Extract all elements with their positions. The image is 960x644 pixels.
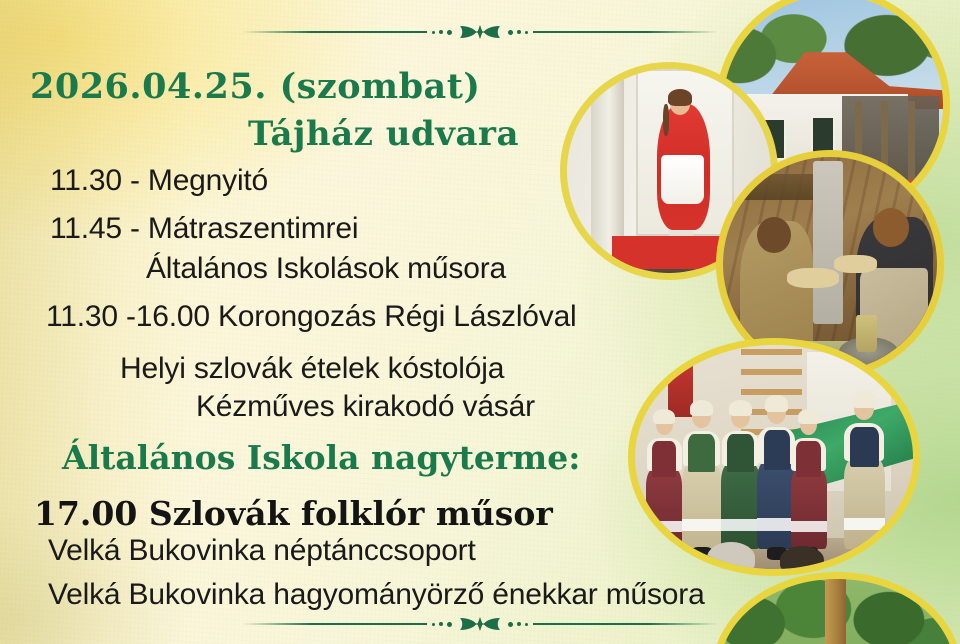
program-line-1: 11.30 - Megnyitó bbox=[50, 164, 268, 198]
hall-heading: Általános Iskola nagyterme: bbox=[62, 438, 580, 477]
ornament-rule-right bbox=[533, 31, 718, 33]
ornament-dots-left bbox=[427, 30, 457, 35]
event-poster: 2026.04.25. (szombat) Tájház udvara 11.3… bbox=[0, 0, 960, 644]
ornament-center-icon bbox=[457, 615, 503, 633]
program-line-5: Helyi szlovák ételek kóstolója bbox=[120, 352, 504, 386]
ornament-rule-left bbox=[242, 31, 427, 33]
ornament-dots-left bbox=[427, 622, 457, 627]
bottom-divider-ornament bbox=[0, 612, 960, 636]
program-line-4: 11.30 -16.00 Korongozás Régi Lászlóval bbox=[46, 300, 577, 334]
program-line-6: Kézműves kirakodó vásár bbox=[196, 390, 535, 424]
program-line-3: Általános Iskolások műsora bbox=[146, 252, 506, 286]
evening-headline: 17.00 Szlovák folklór műsor bbox=[34, 494, 553, 533]
ornament-rule-left bbox=[242, 623, 427, 625]
event-date: 2026.04.25. (szombat) bbox=[30, 66, 480, 107]
photo-dancers-audience bbox=[635, 538, 913, 574]
ornament-dots-right bbox=[503, 622, 533, 627]
photo-dancers-content bbox=[635, 345, 913, 569]
evening-line-2: Velká Bukovinka hagyományörző énekkar mű… bbox=[48, 578, 705, 612]
evening-line-1: Velká Bukovinka néptánccsoport bbox=[48, 534, 476, 568]
ornament-center-icon bbox=[457, 23, 503, 41]
event-venue: Tájház udvara bbox=[248, 114, 519, 154]
ornament-rule-right bbox=[533, 623, 718, 625]
ornament-dots-right bbox=[503, 30, 533, 35]
photo-folk-dance-group bbox=[628, 338, 920, 576]
program-line-2: 11.45 - Mátraszentimrei bbox=[50, 212, 358, 246]
